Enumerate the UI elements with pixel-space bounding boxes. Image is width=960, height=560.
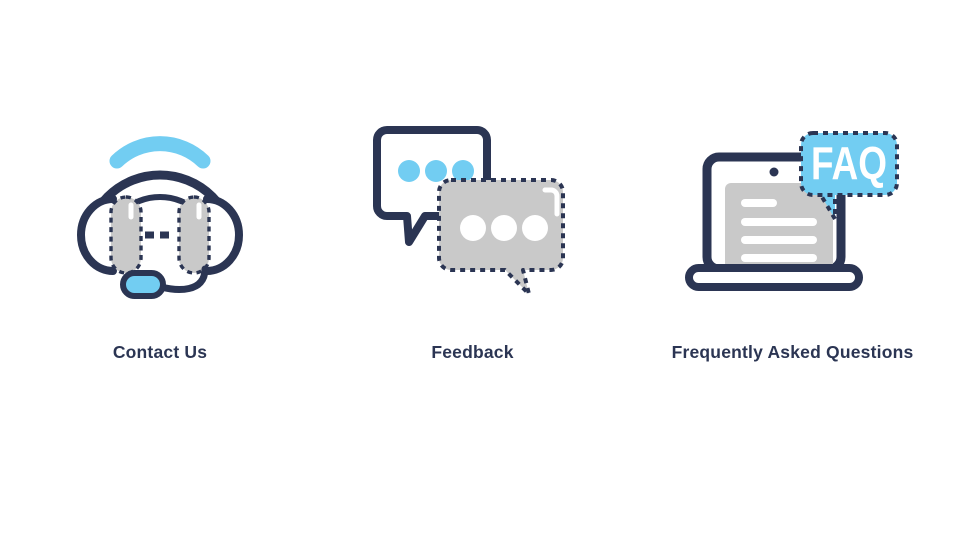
document-line-3 [741, 236, 817, 244]
back-bubble-dot-1 [398, 160, 420, 182]
webcam-dot [770, 168, 779, 177]
front-bubble-dot-3 [522, 215, 548, 241]
document-line-1 [741, 199, 777, 207]
card-label-contact-us: Contact Us [113, 342, 207, 363]
laptop-base [689, 268, 859, 287]
headset-icon [65, 96, 255, 296]
card-label-feedback: Feedback [431, 342, 513, 363]
card-frequently-asked-questions[interactable]: FAQ Frequently Asked Questions [625, 96, 960, 363]
icon-row-canvas: Contact Us Feedback [0, 0, 960, 560]
cards-container: Contact Us Feedback [0, 96, 960, 363]
card-feedback[interactable]: Feedback [320, 96, 625, 363]
back-bubble-dot-2 [425, 160, 447, 182]
document-line-2 [741, 218, 817, 226]
mic-tip [123, 273, 163, 296]
card-contact-us[interactable]: Contact Us [0, 96, 320, 363]
right-earcup-pad [179, 197, 209, 273]
card-label-frequently-asked-questions: Frequently Asked Questions [672, 342, 914, 363]
left-earcup [81, 199, 113, 271]
right-earcup [207, 199, 239, 271]
front-bubble-dot-2 [491, 215, 517, 241]
laptop-faq-icon: FAQ [685, 96, 900, 296]
document-line-4 [741, 254, 817, 262]
left-earcup-pad [111, 197, 141, 273]
blue-headband-pad [117, 144, 203, 161]
front-bubble-dot-1 [460, 215, 486, 241]
faq-bubble-text: FAQ [811, 137, 887, 189]
chat-bubbles-icon [368, 96, 578, 296]
